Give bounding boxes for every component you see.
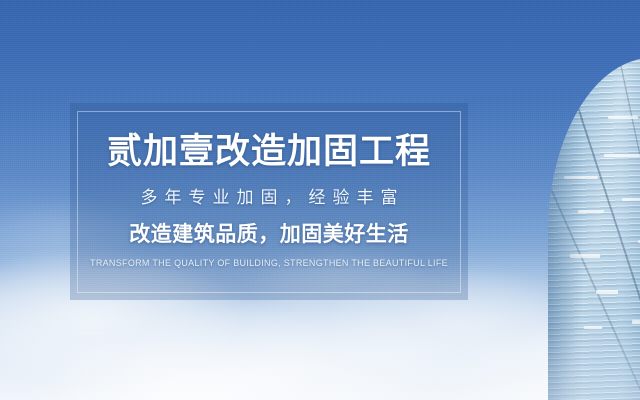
skyscraper-base-haze <box>548 328 640 400</box>
skyscraper-image <box>530 0 640 400</box>
subheadline-text: 多年专业加固，经验丰富 <box>134 187 405 209</box>
promotional-banner: 贰加壹改造加固工程 多年专业加固，经验丰富 改造建筑品质，加固美好生活 TRAN… <box>0 0 640 400</box>
tagline-text: 改造建筑品质，加固美好生活 <box>129 222 409 248</box>
english-caption: TRANSFORM THE QUALITY OF BUILDING, STREN… <box>90 257 448 269</box>
skyscraper-tower <box>548 58 640 400</box>
text-panel: 贰加壹改造加固工程 多年专业加固，经验丰富 改造建筑品质，加固美好生活 TRAN… <box>70 103 468 300</box>
headline-title: 贰加壹改造加固工程 <box>107 131 431 173</box>
panel-content: 贰加壹改造加固工程 多年专业加固，经验丰富 改造建筑品质，加固美好生活 TRAN… <box>70 103 468 300</box>
